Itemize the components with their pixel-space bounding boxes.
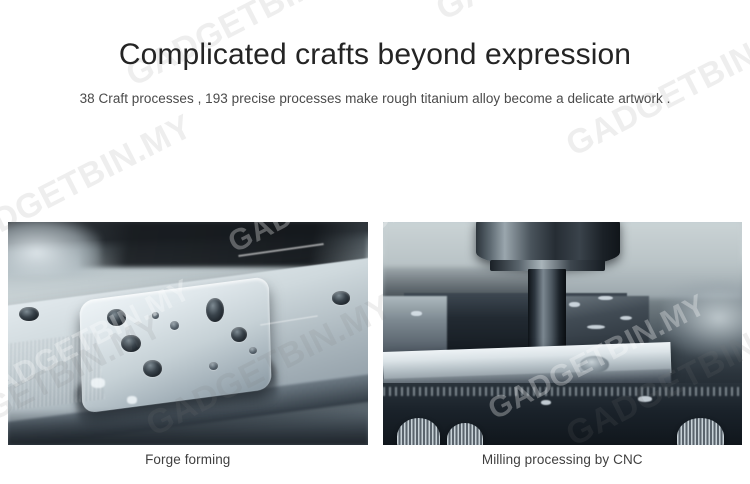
forge-photo-hole <box>143 360 162 377</box>
forge-photo-chip <box>91 378 105 388</box>
gallery-captions: Forge forming Milling processing by CNC <box>8 452 742 467</box>
forge-photo-highlight <box>8 222 101 276</box>
cnc-photo-swarf <box>569 302 580 306</box>
photo-cnc-milling[interactable]: GADGETBIN.MY GADGETBIN.MY <box>383 222 743 445</box>
photo-gallery: GADGETBIN.MY GADGETBIN.MY GADGETBIN.MY <box>8 222 742 445</box>
cnc-photo-swarf <box>411 311 422 315</box>
caption-cnc-milling: Milling processing by CNC <box>383 452 743 467</box>
forge-photo-hole <box>170 321 179 329</box>
page-title: Complicated crafts beyond expression <box>0 0 750 71</box>
forge-photo-hole <box>206 298 224 323</box>
forge-photo-hole <box>249 347 257 354</box>
forge-photo-hole <box>332 291 351 304</box>
cnc-photo-swarf <box>587 325 605 329</box>
cnc-photo-end-mill-shank <box>528 269 566 354</box>
forge-photo-chip <box>127 396 138 404</box>
caption-forge-forming: Forge forming <box>8 452 368 467</box>
page-header: Complicated crafts beyond expression 38 … <box>0 0 750 106</box>
page-subtitle: 38 Craft processes , 193 precise process… <box>0 71 750 106</box>
cnc-photo-swarf <box>638 396 652 402</box>
forge-photo-hole <box>19 307 39 321</box>
cnc-photo-left-block <box>383 296 448 354</box>
photo-forge-forming[interactable]: GADGETBIN.MY GADGETBIN.MY <box>8 222 368 445</box>
forge-photo-bottom-shade <box>8 409 368 445</box>
forge-photo-hole <box>209 362 218 370</box>
